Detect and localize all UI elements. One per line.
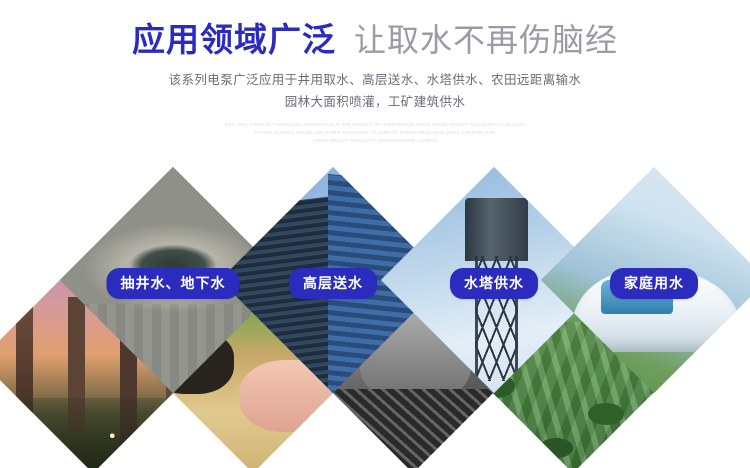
headline-primary: 应用领域广泛: [132, 22, 336, 58]
pill-label-household-water[interactable]: 家庭用水: [610, 268, 698, 299]
diamond-mosaic: [0, 140, 750, 468]
banner-header: 应用领域广泛 让取水不再伤脑经 该系列电泵广泛应用于井用取水、高层送水、水塔供水…: [0, 0, 750, 144]
application-areas-banner: 应用领域广泛 让取水不再伤脑经 该系列电泵广泛应用于井用取水、高层送水、水塔供水…: [0, 0, 750, 468]
pill-label-water-tower[interactable]: 水塔供水: [450, 268, 538, 299]
description-block: 该系列电泵广泛应用于井用取水、高层送水、水塔供水、农田远距离输水 园林大面积喷灌…: [0, 70, 750, 114]
description-line-1: 该系列电泵广泛应用于井用取水、高层送水、水塔供水、农田远距离输水: [0, 70, 750, 92]
pill-label-high-rise-supply[interactable]: 高层送水: [289, 268, 377, 299]
fine-print-line-2: FACING SCIENCE HOUSE AND OTHER FUNCTIONS…: [0, 129, 750, 137]
description-line-2: 园林大面积喷灌，工矿建筑供水: [0, 92, 750, 114]
headline-row: 应用领域广泛 让取水不再伤脑经: [0, 22, 750, 58]
fine-print-line-1: DELT MAY A PERFECT MODELING INTEGRATION …: [0, 121, 750, 129]
pill-label-well-groundwater[interactable]: 抽井水、地下水: [107, 268, 240, 299]
headline-secondary: 让取水不再伤脑经: [354, 23, 618, 58]
